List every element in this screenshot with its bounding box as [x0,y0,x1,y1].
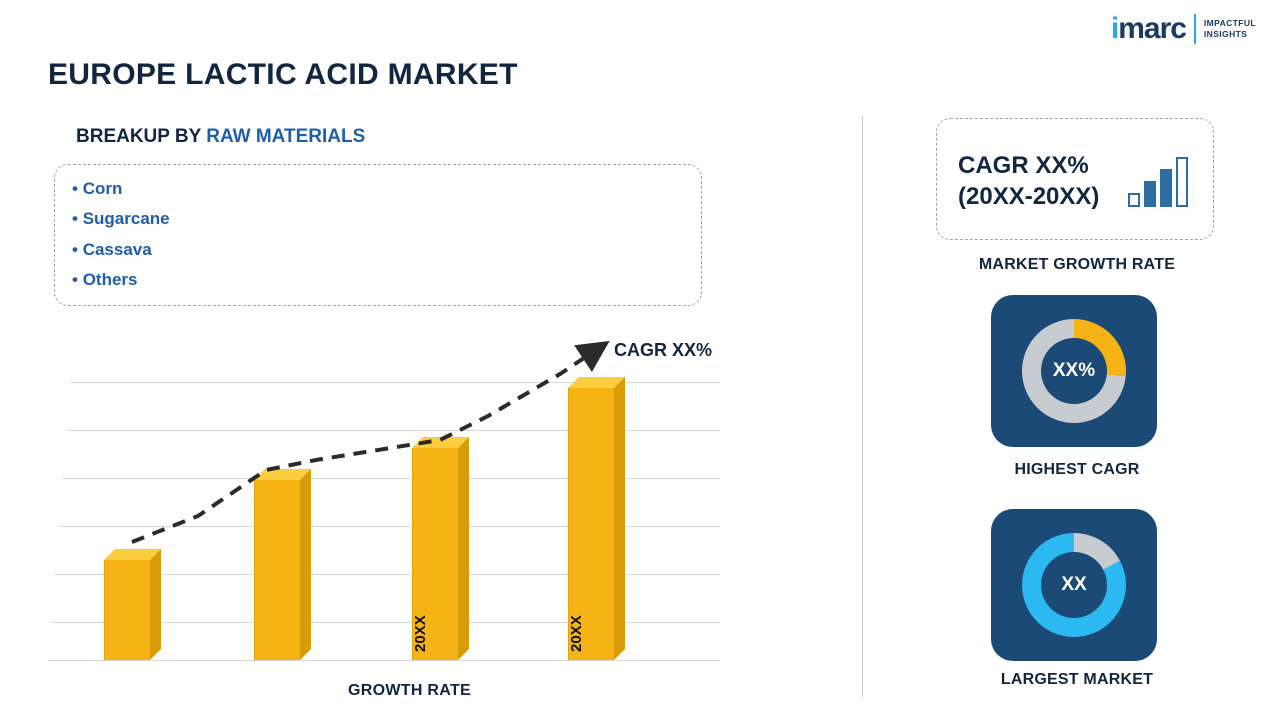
list-item: Corn [72,174,170,204]
bar-icon-2 [1144,181,1156,207]
highest-cagr-value: XX% [1053,360,1095,382]
market-growth-rate-value: CAGR XX% (20XX-20XX) [958,150,1099,212]
highest-cagr-caption: HIGHEST CAGR [927,461,1227,479]
list-item: Others [72,265,170,295]
list-item: Sugarcane [72,204,170,234]
breakup-list: Corn Sugarcane Cassava Others [72,174,170,296]
breakup-heading: BREAKUP BY RAW MATERIALS [76,126,365,148]
largest-market-value: XX [1061,574,1086,596]
vertical-divider [862,116,863,698]
list-item: Cassava [72,235,170,265]
imarc-logo: imarc IMPACTFUL INSIGHTS [1111,14,1256,44]
logo-tagline: IMPACTFUL INSIGHTS [1204,18,1256,40]
x-axis-label: GROWTH RATE [348,682,471,700]
page-title: EUROPE LACTIC ACID MARKET [48,58,518,92]
bar-chart-icon [1128,155,1192,207]
cagr-annotation: CAGR XX% [614,340,712,361]
logo-tagline-line1: IMPACTFUL [1204,18,1256,29]
growth-rate-bar-chart: 20XX 20XX CAGR XX% GROWTH RATE [48,330,788,710]
cagr-trendline [48,330,788,710]
breakup-heading-highlight: RAW MATERIALS [206,126,365,147]
largest-market-donut: XX [1022,533,1126,637]
growth-period-line: (20XX-20XX) [958,181,1099,212]
highest-cagr-donut: XX% [1022,319,1126,423]
logo-divider [1194,14,1196,44]
bar-icon-3 [1160,169,1172,207]
breakup-heading-prefix: BREAKUP BY [76,126,206,147]
largest-market-tile: XX [991,509,1157,661]
bar-icon-1 [1128,193,1140,207]
growth-cagr-line: CAGR XX% [958,150,1099,181]
logo-marc: marc [1118,12,1186,45]
logo-tagline-line2: INSIGHTS [1204,29,1256,40]
largest-market-caption: LARGEST MARKET [927,671,1227,689]
highest-cagr-tile: XX% [991,295,1157,447]
market-growth-rate-caption: MARKET GROWTH RATE [927,256,1227,274]
bar-icon-4 [1176,157,1188,207]
logo-wordmark: imarc [1111,14,1186,44]
